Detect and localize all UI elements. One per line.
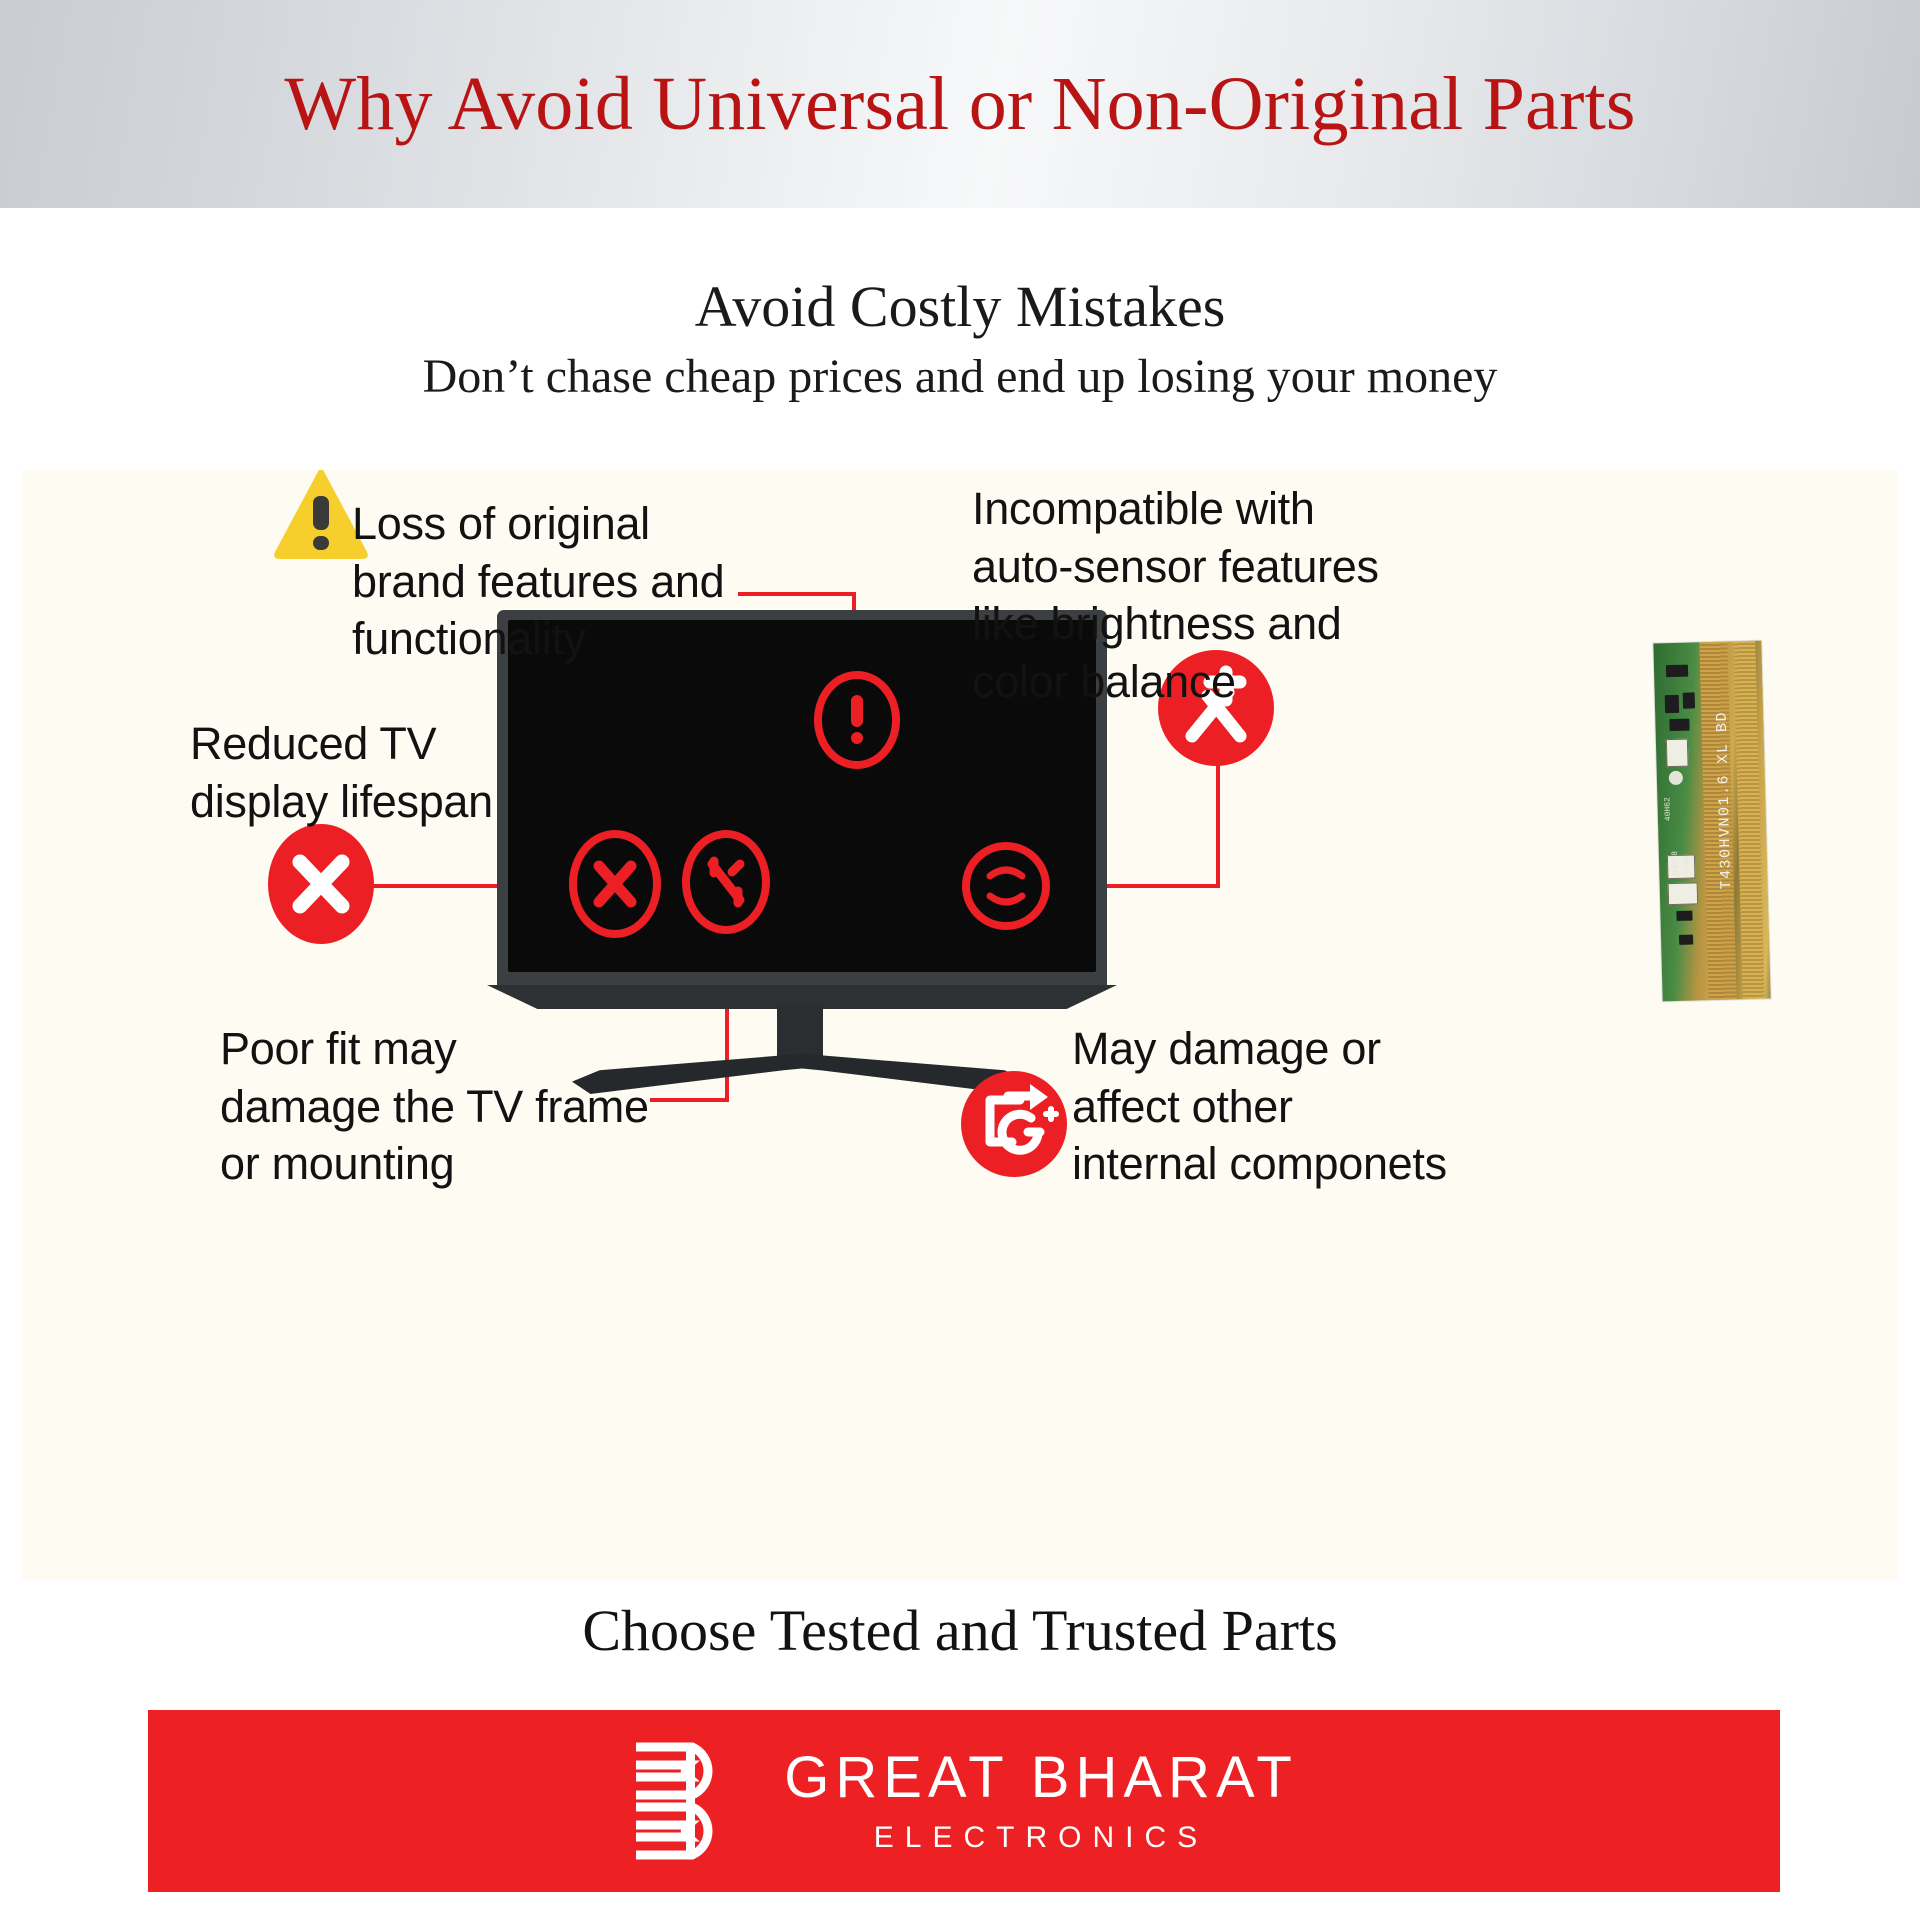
footer-caption-text: Choose Tested and Trusted Parts — [582, 1597, 1337, 1664]
subhead-headline: Avoid Costly Mistakes — [695, 275, 1226, 339]
callout-text-poor-fit: Poor fit may damage the TV frame or moun… — [220, 1020, 680, 1193]
callout-text-internal-components: May damage or affect other internal comp… — [1072, 1020, 1492, 1193]
pcb-chip-1 — [1666, 665, 1688, 678]
pcb-strip-image: T430HVN01.6 XL BD 40H62 94V-8 1744 — [1653, 641, 1770, 1002]
pcb-code-94v8: 94V-8 — [1671, 851, 1681, 875]
percent-outline-icon — [680, 828, 772, 936]
page-title: Why Avoid Universal or Non-Original Part… — [284, 61, 1635, 148]
great-bharat-logo-icon — [630, 1735, 738, 1867]
callout-text-incompatible-auto-sensor: Incompatible with auto-sensor features l… — [972, 480, 1492, 710]
share-g-plus-icon — [960, 1070, 1068, 1178]
footer-caption: Choose Tested and Trusted Parts — [0, 1580, 1920, 1680]
callout-text-reduced-lifespan: Reduced TV display lifespan — [190, 715, 530, 830]
sensor-circle-icon — [960, 840, 1052, 932]
exclamation-circle-icon — [812, 670, 902, 770]
pcb-chip-4 — [1669, 719, 1689, 732]
pcb-marking-box-lower — [1668, 882, 1699, 905]
subhead-subtitle: Don’t chase cheap prices and end up losi… — [423, 351, 1498, 404]
x-outline-icon — [567, 828, 663, 940]
pcb-marking-box-top — [1666, 739, 1689, 768]
x-circle-icon — [266, 822, 376, 946]
pcb-contact-row-b — [1733, 641, 1764, 999]
brand-name: GREAT BHARAT — [784, 1749, 1298, 1807]
pcb-code-40h62: 40H62 — [1663, 797, 1673, 821]
page-header: Why Avoid Universal or Non-Original Part… — [0, 0, 1920, 208]
pcb-chip-2 — [1665, 695, 1679, 713]
brand-subtitle: ELECTRONICS — [874, 1823, 1208, 1853]
pcb-solder-pad — [1669, 771, 1683, 785]
pcb-chip-6 — [1679, 935, 1693, 945]
pcb-chip-3 — [1683, 692, 1695, 708]
pcb-chip-5 — [1676, 911, 1692, 921]
subhead-block: Avoid Costly Mistakes Don’t chase cheap … — [0, 208, 1920, 470]
infographic-panel: T430HVN01.6 XL BD 40H62 94V-8 1744 Loss … — [22, 470, 1898, 1580]
callout-text-loss-of-features: Loss of original brand features and func… — [352, 495, 822, 668]
pcb-code-1744: 1744 — [1683, 855, 1692, 874]
brand-bar: GREAT BHARAT ELECTRONICS — [148, 1710, 1780, 1892]
